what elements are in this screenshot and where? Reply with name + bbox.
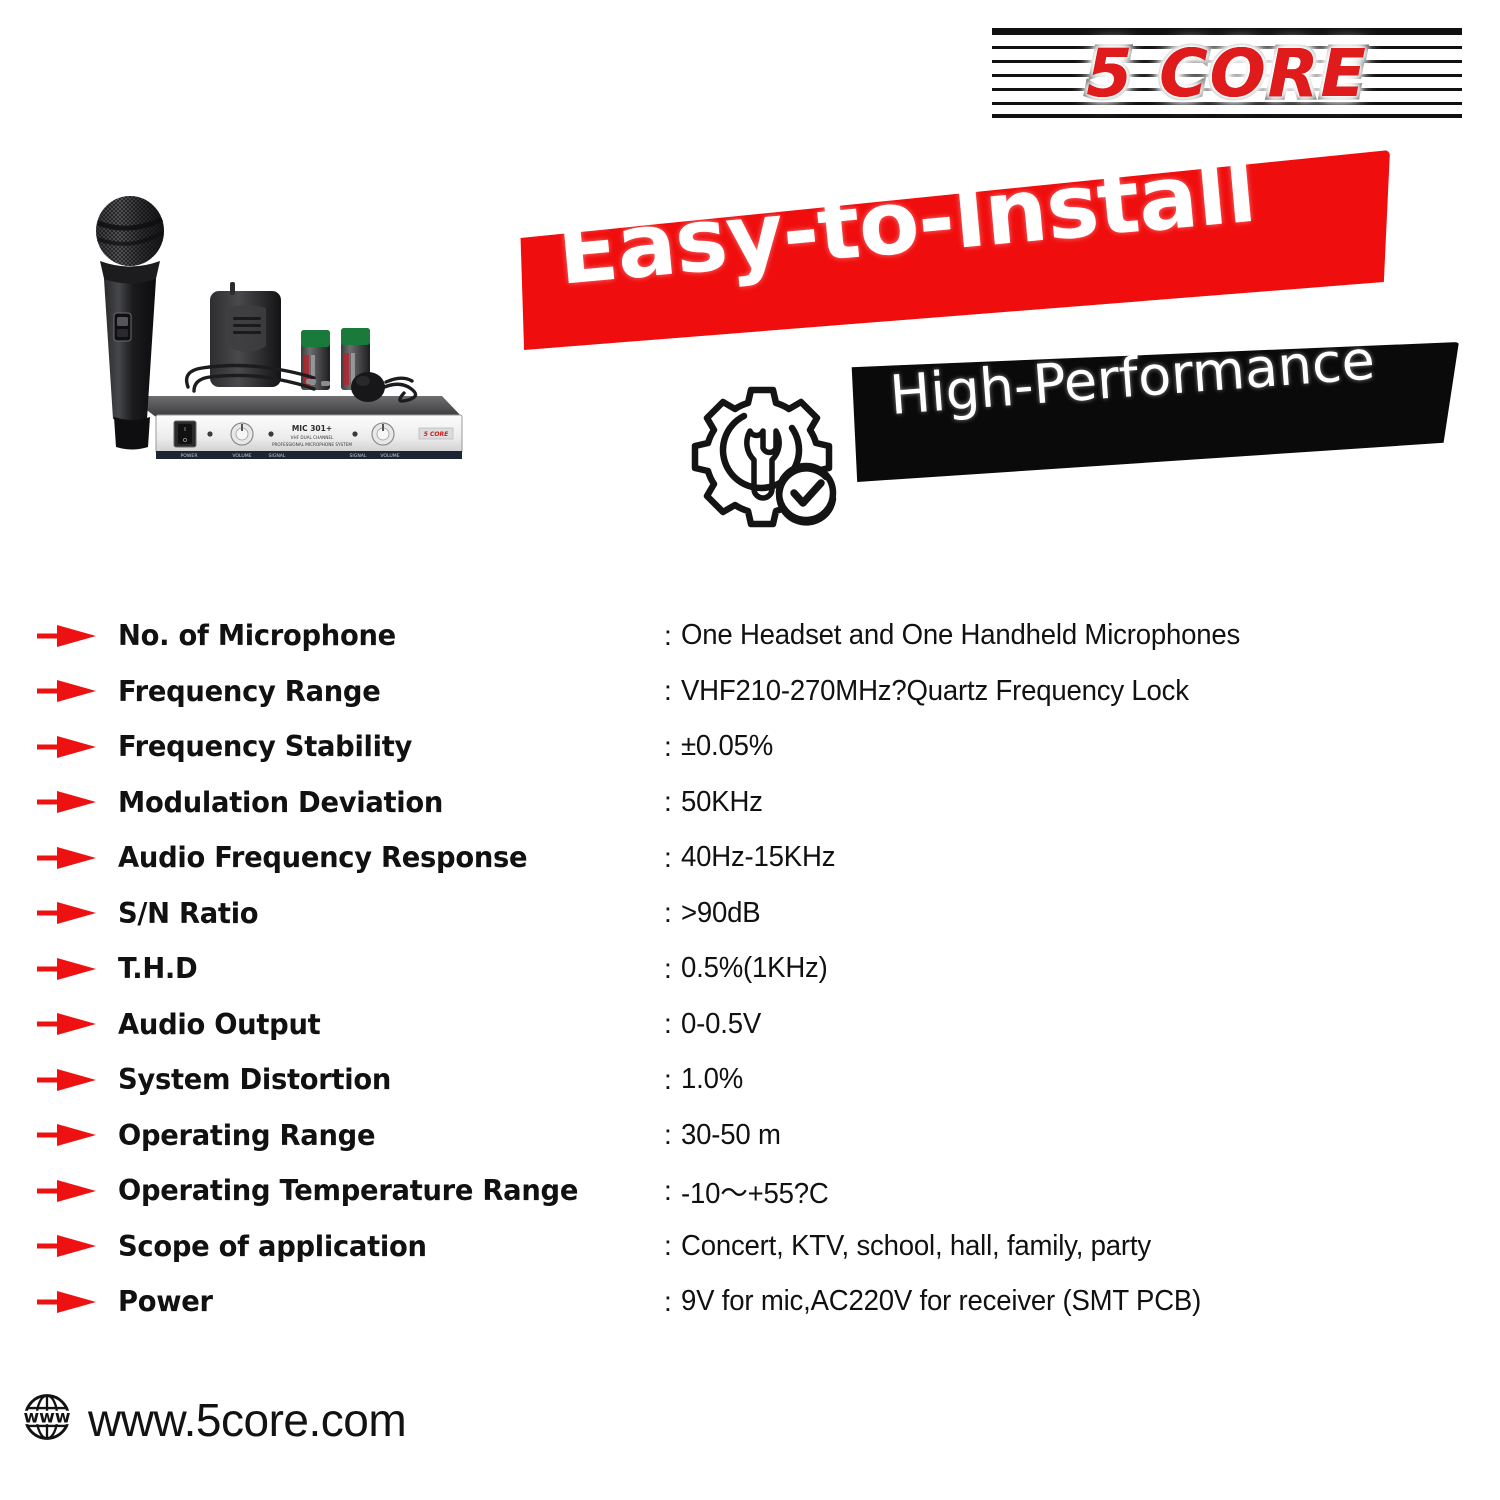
spec-separator: : <box>664 1230 672 1262</box>
spec-label: T.H.D <box>118 952 197 985</box>
site-footer: www www.5core.com <box>22 1392 406 1447</box>
spec-separator: : <box>664 897 672 929</box>
svg-text:I: I <box>184 427 185 433</box>
svg-text:SIGNAL: SIGNAL <box>269 453 286 459</box>
spec-row: System Distortion:1.0% <box>0 1052 1500 1108</box>
globe-www-icon: www <box>22 1392 72 1447</box>
spec-value: One Headset and One Handheld Microphones <box>681 619 1240 652</box>
red-arrow-icon <box>37 1068 97 1092</box>
red-arrow-icon <box>37 790 97 814</box>
spec-label: Audio Frequency Response <box>118 841 527 874</box>
red-arrow-icon <box>37 624 97 648</box>
website-url[interactable]: www.5core.com <box>88 1393 406 1447</box>
svg-text:VHF DUAL CHANNEL: VHF DUAL CHANNEL <box>291 435 334 440</box>
spec-value: ±0.05% <box>681 730 773 763</box>
gear-wrench-check-icon <box>688 378 848 533</box>
spec-value: 50KHz <box>681 786 763 819</box>
spec-label: Operating Range <box>118 1119 375 1152</box>
logo-text-fill: 5 CORE <box>992 28 1462 118</box>
spec-row: Frequency Range:VHF210-270MHz?Quartz Fre… <box>0 664 1500 720</box>
svg-text:SIGNAL: SIGNAL <box>350 453 367 459</box>
lavalier-capsule <box>351 372 385 402</box>
spec-label: System Distortion <box>118 1063 391 1096</box>
bodypack-transmitter <box>210 282 281 387</box>
red-arrow-icon <box>37 1290 97 1314</box>
spec-value: Concert, KTV, school, hall, family, part… <box>681 1230 1151 1263</box>
spec-separator: : <box>664 1175 672 1207</box>
svg-text:PROFESSIONAL MICROPHONE SYSTEM: PROFESSIONAL MICROPHONE SYSTEM <box>272 442 352 447</box>
spec-label: Modulation Deviation <box>118 786 443 819</box>
spec-value: >90dB <box>681 897 760 930</box>
red-arrow-icon <box>37 846 97 870</box>
spec-row: Frequency Stability:±0.05% <box>0 719 1500 775</box>
red-arrow-icon <box>37 1123 97 1147</box>
spec-label: Scope of application <box>118 1230 427 1263</box>
product-photo: I O MIC 301+ VHF DUAL CHANNEL PROFESSION… <box>70 165 490 485</box>
spec-label: Audio Output <box>118 1008 320 1041</box>
spec-row: T.H.D:0.5%(1KHz) <box>0 941 1500 997</box>
svg-text:www: www <box>24 1406 71 1426</box>
spec-row: Modulation Deviation:50KHz <box>0 775 1500 831</box>
spec-label: S/N Ratio <box>118 897 258 930</box>
spec-label: Operating Temperature Range <box>118 1174 578 1207</box>
red-arrow-icon <box>37 679 97 703</box>
spec-separator: : <box>664 731 672 763</box>
spec-row: Audio Frequency Response:40Hz-15KHz <box>0 830 1500 886</box>
svg-text:POWER: POWER <box>180 453 198 459</box>
spec-row: No. of Microphone:One Headset and One Ha… <box>0 608 1500 664</box>
spec-separator: : <box>664 620 672 652</box>
svg-text:VOLUME: VOLUME <box>232 453 251 459</box>
spec-separator: : <box>664 1064 672 1096</box>
spec-value: -10～+55?C <box>681 1170 829 1212</box>
svg-text:5 CORE: 5 CORE <box>424 431 449 438</box>
spec-value: 0-0.5V <box>681 1008 761 1041</box>
spec-label: Frequency Range <box>118 675 381 708</box>
spec-row: Scope of application:Concert, KTV, schoo… <box>0 1219 1500 1275</box>
spec-value: 30-50 m <box>681 1119 781 1152</box>
banner-high-performance: High-Performance <box>848 342 1462 482</box>
spec-separator: : <box>664 1119 672 1151</box>
spec-separator: : <box>664 786 672 818</box>
spec-value: 40Hz-15KHz <box>681 841 835 874</box>
spec-separator: : <box>664 1286 672 1318</box>
red-arrow-icon <box>37 901 97 925</box>
spec-label: No. of Microphone <box>118 619 396 652</box>
spec-label: Power <box>118 1285 213 1318</box>
spec-row: S/N Ratio:>90dB <box>0 886 1500 942</box>
spec-separator: : <box>664 1008 672 1040</box>
spec-separator: : <box>664 675 672 707</box>
red-arrow-icon <box>37 1012 97 1036</box>
spec-value: 9V for mic,AC220V for receiver (SMT PCB) <box>681 1285 1201 1318</box>
red-arrow-icon <box>37 1234 97 1258</box>
red-arrow-icon <box>37 735 97 759</box>
red-arrow-icon <box>37 957 97 981</box>
spec-separator: : <box>664 953 672 985</box>
spec-row: Audio Output:0-0.5V <box>0 997 1500 1053</box>
spec-row: Operating Range:30-50 m <box>0 1108 1500 1164</box>
specification-list: No. of Microphone:One Headset and One Ha… <box>0 608 1500 1330</box>
spec-separator: : <box>664 842 672 874</box>
spec-value: VHF210-270MHz?Quartz Frequency Lock <box>681 675 1189 708</box>
svg-text:VOLUME: VOLUME <box>380 453 399 459</box>
spec-label: Frequency Stability <box>118 730 412 763</box>
svg-text:O: O <box>183 438 187 444</box>
spec-value: 1.0% <box>681 1063 743 1096</box>
spec-row: Operating Temperature Range:-10～+55?C <box>0 1163 1500 1219</box>
spec-row: Power:9V for mic,AC220V for receiver (SM… <box>0 1274 1500 1330</box>
spec-value: 0.5%(1KHz) <box>681 952 828 985</box>
red-arrow-icon <box>37 1179 97 1203</box>
banner-easy-to-install: Easy-to-Install <box>510 150 1390 350</box>
brand-logo: 5 CORE 5 CORE <box>992 28 1462 118</box>
receiver-unit: I O MIC 301+ VHF DUAL CHANNEL PROFESSION… <box>128 396 462 459</box>
svg-text:MIC 301+: MIC 301+ <box>292 424 332 433</box>
